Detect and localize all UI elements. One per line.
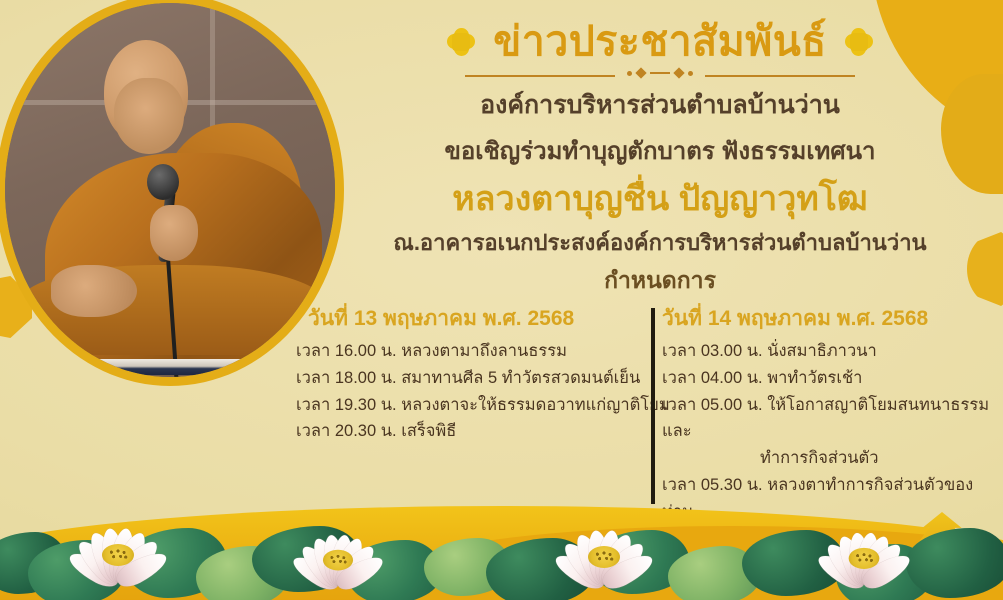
seating-mat	[5, 359, 335, 375]
monk-hand	[150, 205, 198, 261]
schedule-item-continuation: ทำการกิจส่วนตัว	[662, 445, 996, 472]
lotus-flower	[62, 492, 174, 588]
invitation-text: ขอเชิญร่วมทำบุญตักบาตร ฟังธรรมเทศนา	[340, 136, 980, 168]
divider-diamond-icon	[635, 67, 646, 78]
monk-portrait-artwork	[5, 3, 335, 377]
divider-diamond-icon	[673, 67, 684, 78]
quatrefoil-ornament-left-icon	[447, 28, 475, 56]
schedule-item: เวลา 18.00 น. สมาทานศีล 5 ทำวัตรสวดมนต์เ…	[296, 365, 632, 392]
title-row: ข่าวประชาสัมพันธ์	[340, 18, 980, 65]
ornamental-divider	[465, 69, 855, 83]
divider-dash-icon	[650, 72, 670, 74]
announcement-poster: ข่าวประชาสัมพันธ์ องค์การบริหารส่วนตำบลบ…	[0, 0, 1003, 600]
divider-bar-left	[465, 75, 615, 77]
schedule-item: เวลา 19.30 น. หลวงตาจะให้ธรรมดอวาทแก่ญาต…	[296, 392, 632, 419]
lotus-core	[102, 544, 134, 566]
venue-text: ณ.อาคารอเนกประสงค์องค์การบริหารส่วนตำบลบ…	[340, 229, 980, 258]
lotus-core	[323, 550, 353, 571]
schedule-item: เวลา 04.00 น. พาทำวัตรเช้า	[662, 365, 996, 392]
schedule-heading: กำหนดการ	[340, 263, 980, 299]
divider-dot-icon	[688, 71, 693, 76]
page-title: ข่าวประชาสัมพันธ์	[493, 18, 827, 65]
schedule-item: เวลา 16.00 น. หลวงตามาถึงลานธรรม	[296, 338, 632, 365]
poster-header: ข่าวประชาสัมพันธ์ องค์การบริหารส่วนตำบลบ…	[340, 18, 980, 299]
schedule-item: เวลา 05.00 น. ให้โอกาสญาติโยมสนทนาธรรมแล…	[662, 392, 996, 472]
lotus-flower	[548, 494, 660, 590]
monk-face	[114, 78, 184, 154]
divider-center-motif	[627, 69, 693, 77]
divider-dot-icon	[627, 71, 632, 76]
monk-name: หลวงตาบุญชื่น ปัญญาวุทโฒ	[340, 178, 980, 221]
day1-item-list: เวลา 16.00 น. หลวงตามาถึงลานธรรม เวลา 18…	[296, 338, 632, 445]
quatrefoil-ornament-right-icon	[845, 28, 873, 56]
lotus-flower	[285, 501, 390, 591]
lotus-core	[588, 546, 620, 568]
monk-arm	[51, 265, 137, 317]
schedule-item-text: เวลา 05.00 น. ให้โอกาสญาติโยมสนทนาธรรมแล…	[662, 396, 989, 441]
organization-name: องค์การบริหารส่วนตำบลบ้านว่าน	[340, 89, 980, 123]
divider-bar-right	[705, 75, 855, 77]
lotus-core	[849, 548, 880, 569]
lotus-flower	[810, 498, 918, 590]
microphone-head	[147, 164, 179, 200]
monk-portrait-photo	[0, 0, 344, 386]
day2-date-heading: วันที่ 14 พฤษภาคม พ.ศ. 2568	[662, 306, 996, 331]
schedule-item: เวลา 20.30 น. เสร็จพิธี	[296, 418, 632, 445]
day1-date-heading: วันที่ 13 พฤษภาคม พ.ศ. 2568	[296, 306, 632, 331]
lotus-decoration-band	[0, 480, 1003, 600]
schedule-item: เวลา 03.00 น. นั่งสมาธิภาวนา	[662, 338, 996, 365]
